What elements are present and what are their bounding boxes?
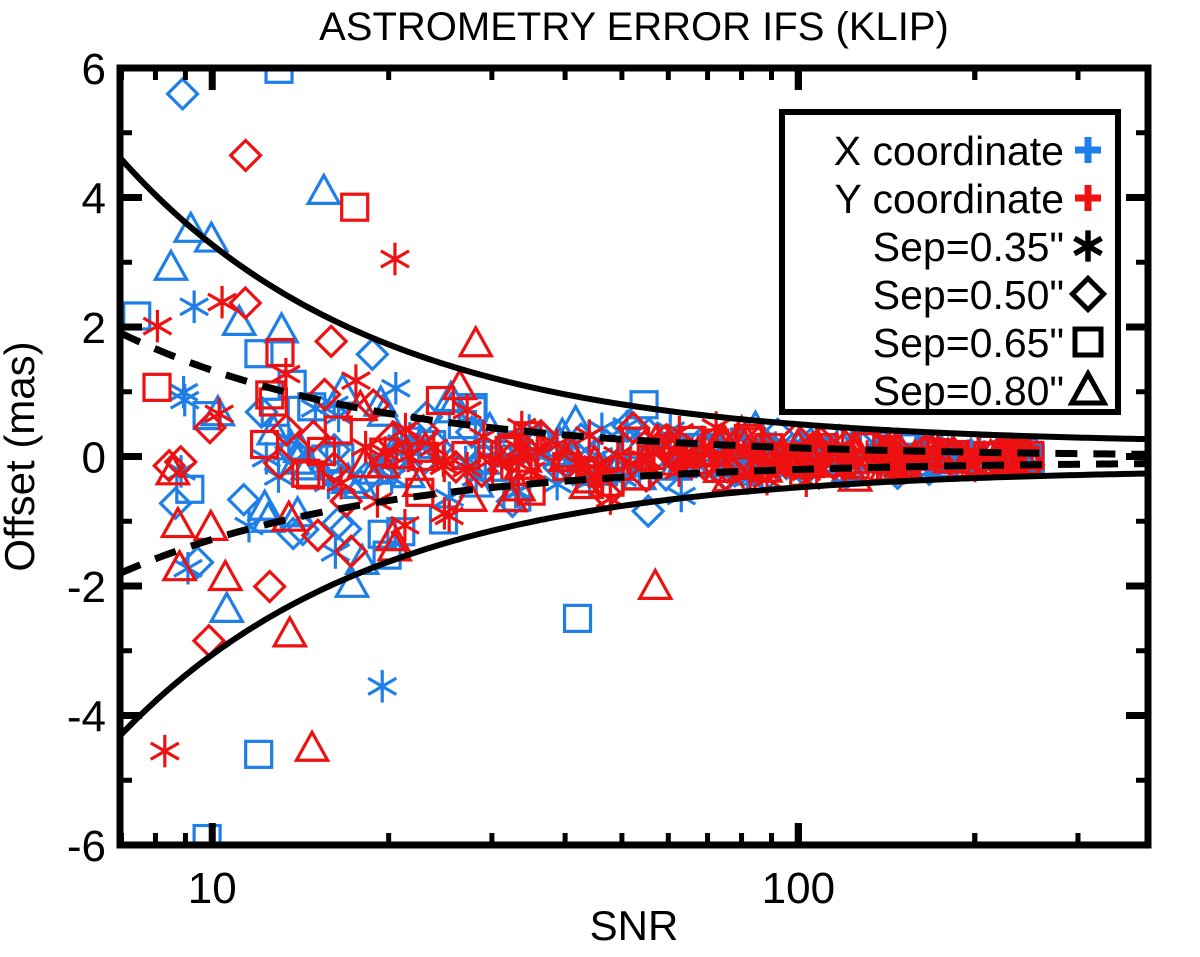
y-axis-tick-label: -4 [67, 693, 106, 742]
legend-label: Sep=0.50" [873, 272, 1064, 318]
x-axis-tick-label: 10 [188, 864, 237, 913]
y-axis-tick-label: -2 [67, 563, 106, 612]
y-axis-tick-label: 0 [82, 434, 106, 483]
legend-label: Sep=0.35" [873, 224, 1064, 270]
y-axis-tick-label: 2 [82, 304, 106, 353]
y-axis-tick-label: -6 [67, 822, 106, 871]
legend-label: Sep=0.80" [873, 368, 1064, 414]
x-axis-tick-label: 100 [762, 864, 835, 913]
y-axis-tick-label: 6 [82, 45, 106, 94]
legend-label: Y coordinate [835, 176, 1064, 222]
chart-legend: X coordinateY coordinateSep=0.35"Sep=0.5… [782, 112, 1118, 414]
chart-title: ASTROMETRY ERROR IFS (KLIP) [319, 5, 949, 49]
y-axis-label: Offset (mas) [0, 341, 43, 571]
legend-label: X coordinate [834, 128, 1064, 174]
y-axis-tick-label: 4 [82, 175, 106, 224]
legend-label: Sep=0.65" [873, 320, 1064, 366]
chart-root: ASTROMETRY ERROR IFS (KLIP)10100-6-4-202… [0, 0, 1200, 957]
astrometry-error-scatter-plot: ASTROMETRY ERROR IFS (KLIP)10100-6-4-202… [0, 0, 1200, 957]
x-axis-label: SNR [590, 902, 679, 949]
